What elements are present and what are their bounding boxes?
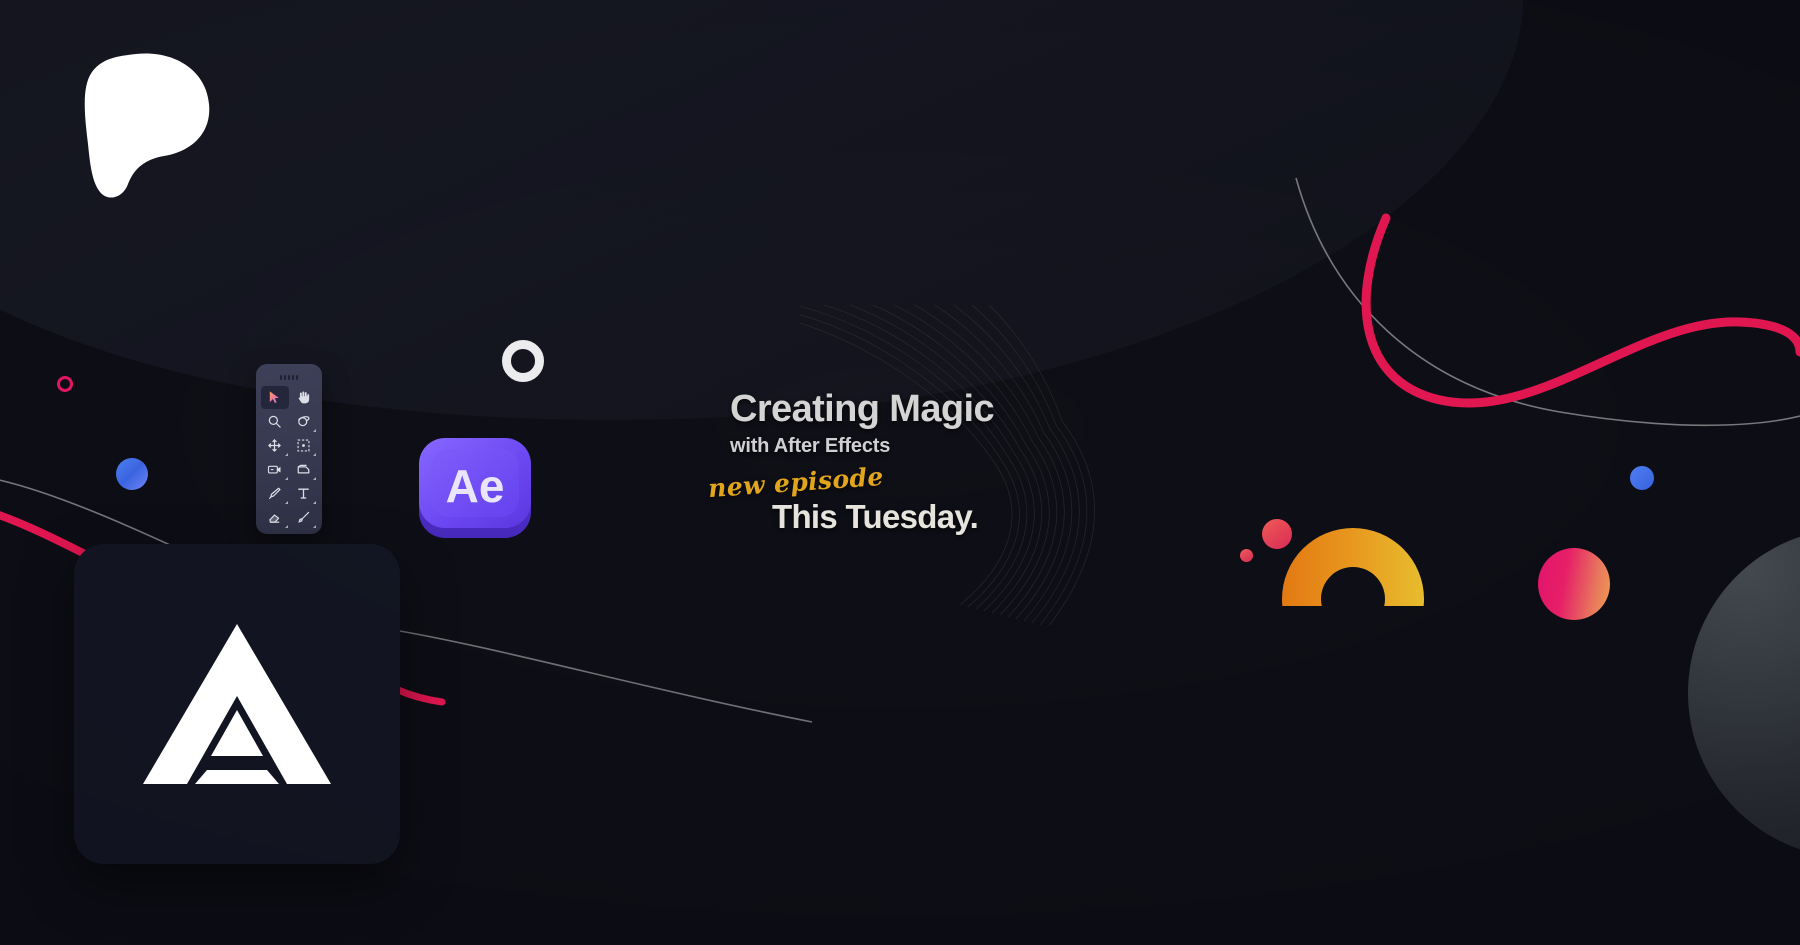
selection-tool[interactable] bbox=[261, 386, 289, 409]
flyout-indicator bbox=[285, 501, 288, 504]
flyout-indicator bbox=[313, 525, 316, 528]
pen-tool[interactable] bbox=[261, 482, 289, 505]
promo-canvas: Ae bbox=[0, 0, 1800, 945]
flyout-indicator bbox=[285, 453, 288, 456]
promo-subtitle: with After Effects bbox=[730, 435, 1160, 458]
pink-ring-shape bbox=[57, 376, 73, 392]
magnifier-icon bbox=[267, 414, 282, 429]
blue-circle-right bbox=[1630, 466, 1654, 490]
promo-airdate: This Tuesday. bbox=[772, 498, 978, 536]
brush-tool[interactable] bbox=[290, 506, 318, 529]
dark-sphere-shape bbox=[1688, 528, 1800, 858]
nested-triangle-logo bbox=[139, 618, 335, 790]
flyout-indicator bbox=[313, 477, 316, 480]
cursor-arrow-icon bbox=[267, 390, 282, 405]
brand-logo-card[interactable] bbox=[74, 544, 400, 864]
panel-grip-handle[interactable] bbox=[261, 375, 317, 380]
pan-behind-icon bbox=[267, 438, 282, 453]
red-circle-small bbox=[1240, 549, 1253, 562]
orbit-tool[interactable] bbox=[290, 410, 318, 433]
eraser-icon bbox=[267, 510, 282, 525]
gray-curve-center bbox=[394, 630, 812, 722]
after-effects-app-icon[interactable]: Ae bbox=[415, 430, 543, 546]
icon-label: Ae bbox=[446, 460, 505, 512]
blue-circle-left bbox=[116, 458, 148, 490]
camera-icon bbox=[267, 462, 282, 477]
orange-arch-shape bbox=[1282, 528, 1424, 606]
pan-behind-tool[interactable] bbox=[261, 434, 289, 457]
shape-icon bbox=[296, 462, 311, 477]
type-t-icon bbox=[296, 486, 311, 501]
promo-text-block: Creating Magic with After Effects new ep… bbox=[730, 390, 1160, 458]
crimson-curve-stub bbox=[398, 690, 442, 702]
hand-icon bbox=[296, 390, 311, 405]
flyout-indicator bbox=[313, 501, 316, 504]
after-effects-tool-panel[interactable] bbox=[256, 364, 322, 534]
paintbrush-icon bbox=[296, 510, 311, 525]
hand-tool[interactable] bbox=[290, 386, 318, 409]
eraser-tool[interactable] bbox=[261, 506, 289, 529]
zoom-tool[interactable] bbox=[261, 410, 289, 433]
camera-tool[interactable] bbox=[261, 458, 289, 481]
pen-icon bbox=[267, 486, 282, 501]
shape-mask-tool[interactable] bbox=[290, 434, 318, 457]
white-ring-shape bbox=[502, 340, 544, 382]
pink-orange-gradient-circle bbox=[1538, 548, 1610, 620]
flyout-indicator bbox=[313, 429, 316, 432]
logo-outer-triangle bbox=[143, 624, 331, 784]
flyout-indicator bbox=[285, 525, 288, 528]
orbit-icon bbox=[296, 414, 311, 429]
flyout-indicator bbox=[285, 477, 288, 480]
flyout-indicator bbox=[313, 453, 316, 456]
dashed-square-icon bbox=[296, 438, 311, 453]
logo-inner-bar bbox=[195, 770, 279, 784]
type-tool[interactable] bbox=[290, 482, 318, 505]
promo-kicker: new episode bbox=[707, 462, 884, 503]
tool-grid bbox=[261, 386, 317, 529]
patreon-p-logo[interactable] bbox=[78, 52, 210, 200]
page-title: Creating Magic bbox=[730, 390, 1160, 430]
crimson-curve-right bbox=[1366, 218, 1800, 403]
shape-tool[interactable] bbox=[290, 458, 318, 481]
patreon-glyph bbox=[85, 53, 210, 197]
